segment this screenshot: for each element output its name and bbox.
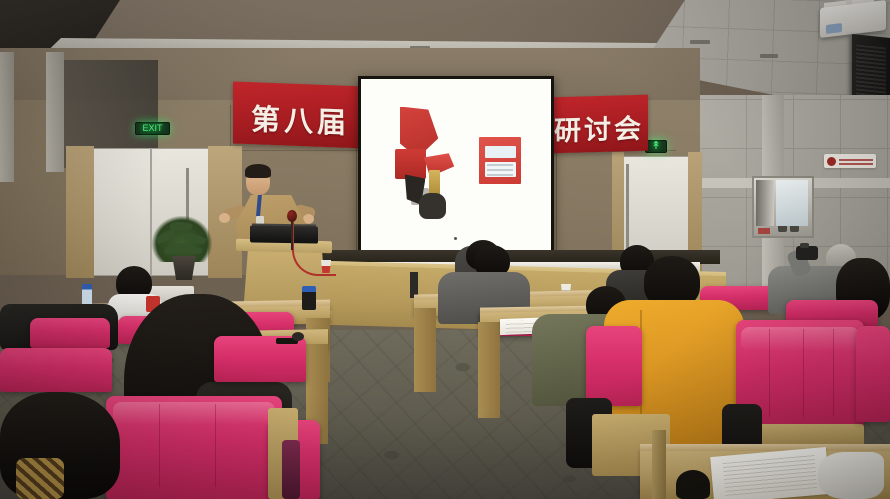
logo-mark-icon (827, 157, 836, 166)
desk-front-right-edge (640, 444, 890, 451)
microphone-stand (291, 220, 293, 250)
banner-right: 研讨会 (548, 95, 648, 154)
slide-cursor-dot (454, 237, 457, 240)
chair-middle-1[interactable] (586, 326, 642, 406)
microphone-icon (287, 210, 297, 222)
exit-sign-right: ↟ (645, 140, 667, 153)
speaker-left-hand (219, 213, 230, 223)
chair-crease (833, 329, 834, 417)
desk-post-right (652, 430, 666, 499)
slide-dark-shape-2 (419, 193, 446, 219)
door-frame-left (66, 146, 94, 278)
conference-hall-photo: EXIT ↟ 第八届 研讨会 (0, 0, 890, 499)
handout-front-right (710, 447, 830, 499)
column-left (46, 52, 64, 172)
tumbler-desk (302, 286, 316, 310)
banner-right-text: 研讨会 (554, 107, 644, 149)
attendee-leopard-collar (16, 458, 64, 499)
camera-icon (796, 246, 818, 260)
chair-crease (215, 404, 216, 486)
chair-crease (803, 329, 804, 417)
exit-sign-left-label: EXIT (142, 124, 162, 133)
slide-red-shape-2 (395, 149, 425, 179)
exit-sign-right-label: ↟ (651, 141, 660, 152)
handout-lines (722, 455, 817, 497)
exit-sign-left: EXIT (135, 122, 170, 135)
camera-lens-icon (800, 243, 809, 248)
chair-back-left-1[interactable] (30, 318, 110, 348)
display-case-glass (776, 180, 808, 226)
slide-card-panel-top (485, 146, 516, 158)
desk-middle-right-side (478, 322, 500, 418)
chair-front-left[interactable] (106, 396, 282, 499)
chair-middle-3[interactable] (856, 326, 890, 422)
mouse-icon (292, 332, 304, 341)
chair-crease (159, 404, 160, 486)
speaker-hair (245, 164, 271, 178)
desk-back-right-side (414, 308, 436, 392)
chair-front-shadow (282, 440, 300, 499)
slide-figure-group (395, 107, 475, 224)
chair-crease (769, 329, 770, 417)
plant-leaf (155, 229, 177, 245)
banner-left: 第八届 (233, 81, 365, 148)
plant-leaf (181, 243, 202, 256)
dark-object-front (676, 470, 710, 499)
banner-left-text: 第八届 (251, 96, 350, 142)
slide-surface (361, 79, 551, 251)
slide-card-panel-bottom (485, 162, 516, 178)
column-far-left (0, 52, 14, 182)
potted-plant-foliage (152, 216, 212, 262)
slide-poster-card (479, 137, 521, 183)
chair-highlight (741, 327, 859, 351)
chair-highlight (113, 402, 275, 425)
projection-screen (358, 76, 554, 254)
display-case-red-item (758, 228, 770, 234)
ceiling-vent (690, 40, 710, 44)
wall-logo-sign (824, 154, 876, 168)
tissue-or-cloth (818, 452, 884, 499)
display-case-shadow (756, 180, 774, 226)
chair-left-mid-1[interactable] (0, 348, 112, 392)
logo-text-block (839, 158, 873, 165)
ceiling-vent (760, 54, 778, 58)
